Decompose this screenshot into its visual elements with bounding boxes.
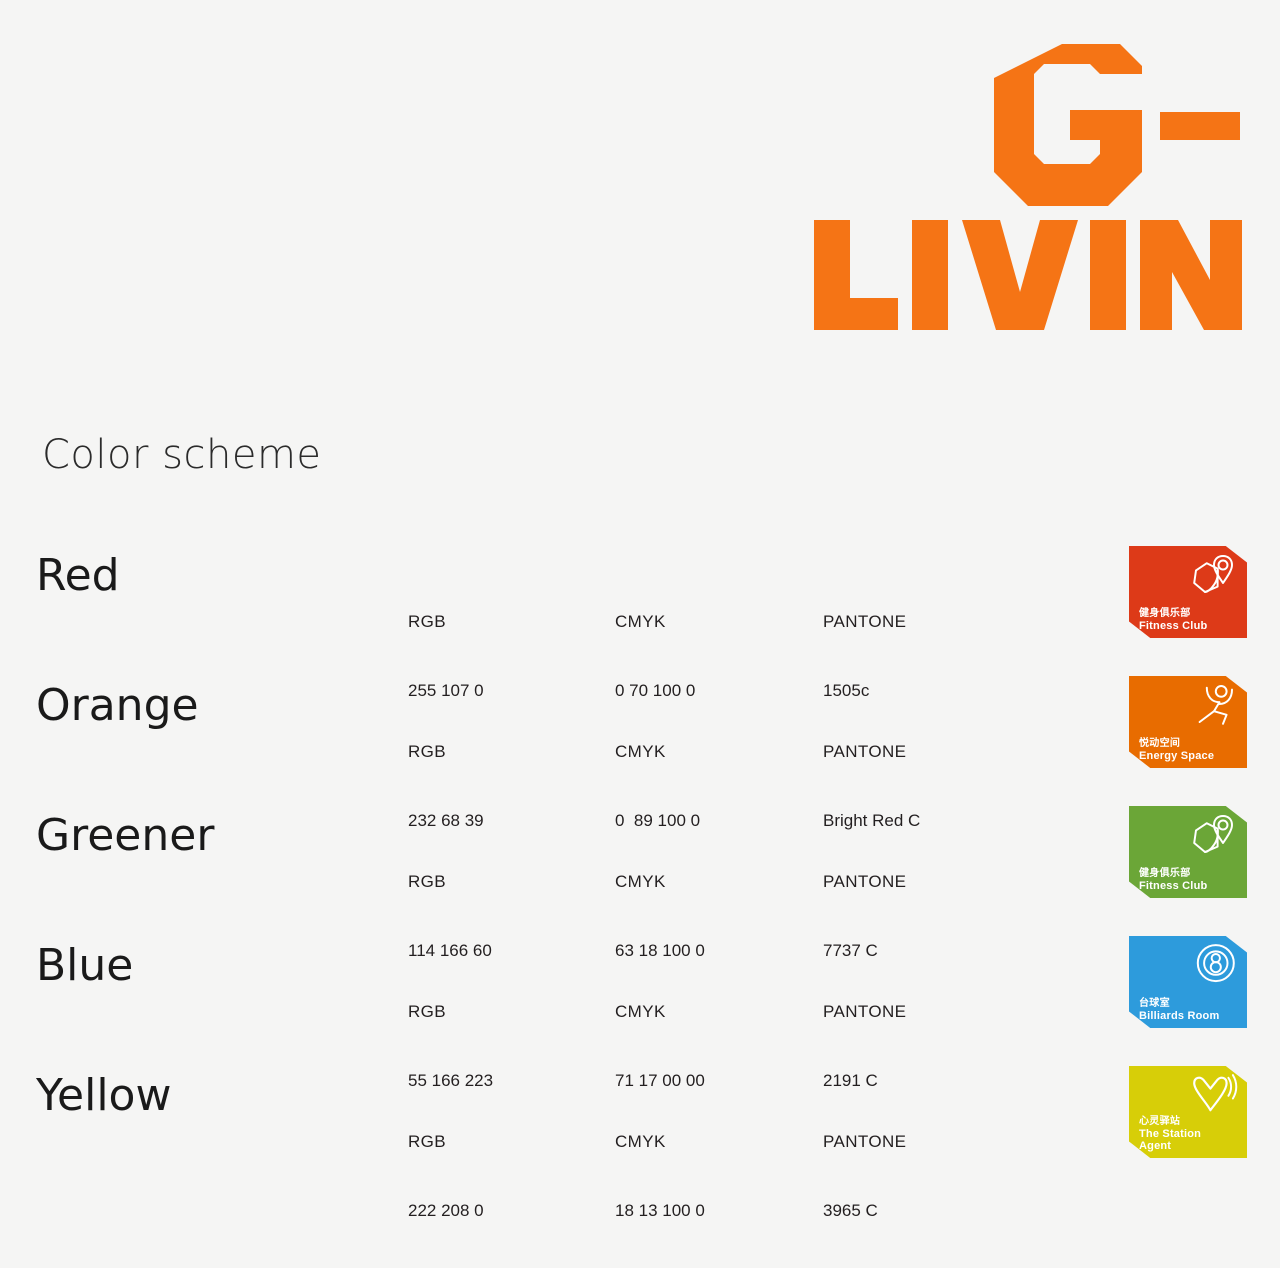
badge-label-cn: 健身俱乐部: [1139, 868, 1241, 880]
color-name: Orange: [36, 680, 199, 732]
pantone-label: PANTONE: [823, 870, 906, 893]
pantone-value: 3965 C: [823, 1199, 906, 1222]
badge-label-cn: 台球室: [1139, 998, 1241, 1010]
color-name: Red: [36, 550, 120, 602]
rgb-label: RGB: [408, 1130, 484, 1153]
cmyk-value: 18 13 100 0: [615, 1199, 705, 1222]
color-row: Red RGB 255 107 0 CMYK 0 70 100 0 PANTON…: [0, 528, 1280, 658]
badge-label-cn: 健身俱乐部: [1139, 608, 1241, 620]
badge-label-group: 台球室 Billiards Room: [1139, 998, 1241, 1023]
rgb-label: RGB: [408, 870, 492, 893]
location-pin-map-icon: [1187, 810, 1241, 858]
eight-ball-icon: [1187, 940, 1241, 988]
rgb-label: RGB: [408, 1000, 493, 1023]
logo-letter-g: [994, 44, 1142, 206]
color-name: Greener: [36, 810, 214, 862]
cmyk-label: CMYK: [615, 1000, 705, 1023]
badge-label-group: 心灵驿站 The Station Agent: [1139, 1116, 1241, 1152]
badge-label-en: Energy Space: [1139, 750, 1241, 763]
pantone-label: PANTONE: [823, 610, 906, 633]
page-title: Color scheme: [42, 432, 322, 478]
rgb-value: 222 208 0: [408, 1199, 484, 1222]
logo-hyphen: [1160, 112, 1240, 140]
color-row: Yellow RGB 222 208 0 CMYK 18 13 100 0 PA…: [0, 1048, 1280, 1178]
pantone-label: PANTONE: [823, 740, 920, 763]
badge-label-en: The Station Agent: [1139, 1128, 1211, 1152]
color-name: Yellow: [36, 1070, 171, 1122]
color-name: Blue: [36, 940, 133, 992]
cmyk-label: CMYK: [615, 870, 705, 893]
cmyk-spec: CMYK 18 13 100 0: [615, 1084, 705, 1268]
badge-label-group: 健身俱乐部 Fitness Club: [1139, 868, 1241, 893]
pantone-label: PANTONE: [823, 1130, 906, 1153]
cmyk-label: CMYK: [615, 610, 695, 633]
brand-logo: [802, 44, 1242, 334]
rgb-spec: RGB 222 208 0: [408, 1084, 484, 1268]
badge-label-cn: 悦动空间: [1139, 738, 1241, 750]
rgb-label: RGB: [408, 610, 484, 633]
badge-label-en: Fitness Club: [1139, 880, 1241, 893]
color-row: Blue RGB 55 166 223 CMYK 71 17 00 00 PAN…: [0, 918, 1280, 1048]
badge-label-cn: 心灵驿站: [1139, 1116, 1241, 1128]
cmyk-label: CMYK: [615, 740, 700, 763]
badge-label-en: Fitness Club: [1139, 620, 1241, 633]
signage-badge: 心灵驿站 The Station Agent: [1129, 1066, 1247, 1158]
color-row: Greener RGB 114 166 60 CMYK 63 18 100 0 …: [0, 788, 1280, 918]
rgb-label: RGB: [408, 740, 484, 763]
color-row: Orange RGB 232 68 39 CMYK 0 89 100 0 PAN…: [0, 658, 1280, 788]
signage-badge: 健身俱乐部 Fitness Club: [1129, 546, 1247, 638]
cmyk-label: CMYK: [615, 1130, 705, 1153]
badge-label-group: 健身俱乐部 Fitness Club: [1139, 608, 1241, 633]
logo-wordmark-svg: [812, 44, 1242, 334]
signage-badge: 台球室 Billiards Room: [1129, 936, 1247, 1028]
pantone-label: PANTONE: [823, 1000, 906, 1023]
color-scheme-table: Red RGB 255 107 0 CMYK 0 70 100 0 PANTON…: [0, 528, 1280, 1178]
badge-label-en: Billiards Room: [1139, 1010, 1241, 1023]
badge-label-group: 悦动空间 Energy Space: [1139, 738, 1241, 763]
signage-badge: 悦动空间 Energy Space: [1129, 676, 1247, 768]
pantone-spec: PANTONE 3965 C: [823, 1084, 906, 1268]
dancing-figure-icon: [1187, 680, 1241, 728]
location-pin-map-icon: [1187, 550, 1241, 598]
logo-letter-living: [814, 220, 1242, 330]
listening-ear-waves-icon: [1187, 1070, 1241, 1118]
signage-badge: 健身俱乐部 Fitness Club: [1129, 806, 1247, 898]
